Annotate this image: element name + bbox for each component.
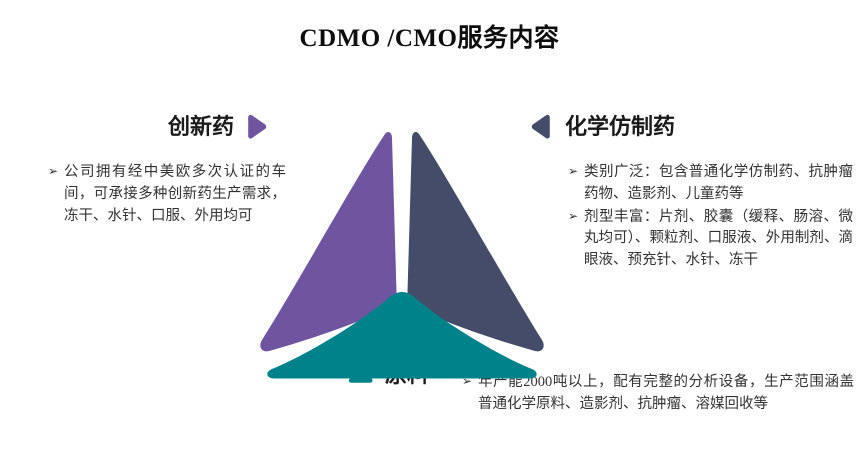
three-blade-triangle-diagram	[252, 126, 552, 381]
bullet-list-generic: ➢ 类别广泛：包含普通化学仿制药、抗肿瘤药物、造影剂、儿童药等 ➢ 剂型丰富：片…	[568, 162, 853, 272]
slide-canvas: CDMO /CMO服务内容 创新药 ➢ 公司拥有经中美欧多次认证的车间，可承接多…	[0, 0, 859, 458]
bullet-arrow-icon: ➢	[568, 162, 584, 181]
bullet-arrow-icon: ➢	[568, 207, 584, 226]
section-label-innovative: 创新药	[168, 116, 234, 138]
page-title: CDMO /CMO服务内容	[0, 18, 859, 54]
section-label-generic: 化学仿制药	[565, 116, 675, 138]
list-item: ➢ 公司拥有经中美欧多次认证的车间，可承接多种创新药生产需求，冻干、水针、口服、…	[48, 162, 286, 227]
list-item: ➢ 类别广泛：包含普通化学仿制药、抗肿瘤药物、造影剂、儿童药等	[568, 162, 853, 206]
list-item-text: 类别广泛：包含普通化学仿制药、抗肿瘤药物、造影剂、儿童药等	[584, 162, 853, 206]
bullet-list-innovative: ➢ 公司拥有经中美欧多次认证的车间，可承接多种创新药生产需求，冻干、水针、口服、…	[48, 162, 286, 227]
bullet-arrow-icon: ➢	[48, 162, 64, 181]
list-item: ➢ 剂型丰富：片剂、胶囊（缓释、肠溶、微丸均可）、颗粒剂、口服液、外用制剂、滴眼…	[568, 207, 853, 272]
list-item-text: 剂型丰富：片剂、胶囊（缓释、肠溶、微丸均可）、颗粒剂、口服液、外用制剂、滴眼液、…	[584, 207, 853, 272]
